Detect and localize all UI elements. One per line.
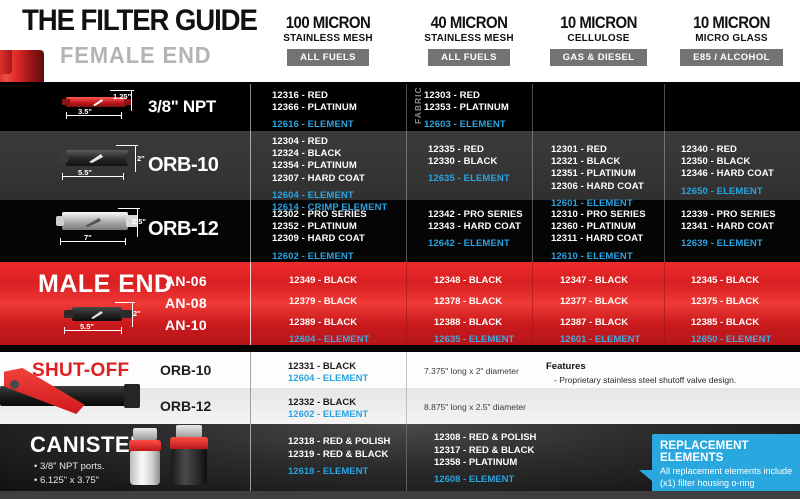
shutoff-element-1: 12602 - ELEMENT	[288, 409, 368, 420]
part-number: 12350 - BLACK	[681, 156, 750, 167]
page-footer-bar	[0, 491, 800, 499]
male-size-0: AN-06	[165, 273, 207, 289]
replacement-body: All replacement elements include (x1) fi…	[660, 466, 800, 489]
canister-bullet-1: • 6.125" x 3.75"	[34, 475, 99, 486]
column-micron-3: 10 MICRON	[673, 14, 790, 32]
column-divider-male-2	[532, 262, 533, 345]
part-number: 12309 - HARD COAT	[272, 233, 365, 244]
element-number: 12642 - ELEMENT	[428, 238, 510, 249]
part-number: 12354 - PLATINUM	[272, 160, 357, 171]
column-badge-3: E85 / ALCOHOL	[680, 49, 783, 66]
part-number: 12366 - PLATINUM	[272, 102, 357, 113]
column-micron-1: 40 MICRON	[414, 14, 525, 32]
column-header-1: 40 MICRON STAINLESS MESH ALL FUELS	[406, 14, 532, 66]
element-number: 12635 - ELEMENT	[428, 173, 510, 184]
part-cell-orb12-c3: 12339 - PRO SERIES12341 - HARD COAT12639…	[681, 209, 776, 251]
part-number: 12353 - PLATINUM	[424, 102, 509, 113]
element-number: 12616 - ELEMENT	[272, 119, 354, 130]
part-cell-npt-c1: 12303 - RED12353 - PLATINUM12603 - ELEME…	[424, 90, 509, 132]
row-label-orb12: ORB-12	[148, 218, 218, 241]
element-number: 12602 - ELEMENT	[272, 251, 354, 262]
part-cell-orb10-c2: 12301 - RED12321 - BLACK12351 - PLATINUM…	[551, 144, 644, 210]
dimension-width-orb12: 7"	[84, 233, 92, 242]
canister-part-4: 12358 - PLATINUM	[434, 457, 517, 468]
column-divider-shutoff	[250, 352, 251, 424]
column-divider-2	[532, 84, 533, 262]
male-part-r2-c0: 12389 - BLACK	[289, 317, 357, 328]
part-number: 12351 - PLATINUM	[551, 168, 636, 179]
male-part-r1-c2: 12377 - BLACK	[560, 296, 628, 307]
dimension-width-orb10: 5.5"	[78, 168, 92, 177]
column-material-3: MICRO GLASS	[668, 32, 794, 45]
male-part-r0-c1: 12348 - BLACK	[434, 275, 502, 286]
male-part-r0-c2: 12347 - BLACK	[560, 275, 628, 286]
brand-logo-icon	[88, 310, 106, 320]
row-label-orb10: ORB-10	[148, 154, 218, 177]
part-number: 12310 - PRO SERIES	[551, 209, 646, 220]
column-badge-2: GAS & DIESEL	[550, 49, 648, 66]
filter-thumb-orb12	[56, 210, 142, 234]
column-material-2: CELLULOSE	[536, 32, 660, 45]
part-cell-orb12-c1: 12342 - PRO SERIES12343 - HARD COAT12642…	[428, 209, 523, 251]
dimension-height-male: 2"	[133, 309, 141, 318]
element-number: 12604 - ELEMENT	[272, 190, 354, 201]
column-divider-canister-0	[250, 424, 251, 491]
brand-logo-icon	[86, 153, 106, 164]
canister-part-2: 12308 - RED & POLISH	[434, 432, 536, 443]
part-number: 12360 - PLATINUM	[551, 221, 636, 232]
column-divider-male-3	[664, 262, 665, 345]
section-male-end: MALE END 2" 5.5" AN-06 AN-08 AN-10 12349…	[0, 262, 800, 345]
element-number: 12603 - ELEMENT	[424, 119, 506, 130]
male-part-r2-c1: 12388 - BLACK	[434, 317, 502, 328]
dimension-height-orb12: 2.5"	[132, 217, 146, 226]
male-part-r1-c3: 12375 - BLACK	[691, 296, 759, 307]
filter-guide-page: THE FILTER GUIDE FEMALE END 100 MICRON S…	[0, 0, 800, 499]
filter-thumb-male	[62, 304, 136, 324]
column-material-1: STAINLESS MESH	[409, 32, 529, 45]
section-title-male-end: MALE END	[38, 270, 173, 299]
male-part-r2-c2: 12387 - BLACK	[560, 317, 628, 328]
canister-element-0: 12618 - ELEMENT	[288, 466, 368, 477]
column-divider-0	[250, 84, 251, 262]
column-divider-male-1	[406, 262, 407, 345]
part-number: 12342 - PRO SERIES	[428, 209, 523, 220]
canister-part-3: 12317 - RED & BLACK	[434, 445, 534, 456]
column-micron-2: 10 MICRON	[541, 14, 656, 32]
shutoff-dims-0: 7.375" long x 2" diameter	[424, 366, 519, 376]
column-header-0: 100 MICRON STAINLESS MESH ALL FUELS	[252, 14, 404, 66]
section-canister: CANISTER • 3/8" NPT ports. • 6.125" x 3.…	[0, 424, 800, 491]
element-number: 12601 - ELEMENT	[551, 198, 633, 209]
male-size-1: AN-08	[165, 295, 207, 311]
part-cell-orb10-c0: 12304 - RED12324 - BLACK12354 - PLATINUM…	[272, 136, 387, 214]
canister-element-1: 12608 - ELEMENT	[434, 474, 514, 485]
part-number: 12307 - HARD COAT	[272, 173, 365, 184]
brand-logo-icon	[82, 216, 104, 228]
column-material-0: STAINLESS MESH	[256, 32, 400, 45]
canister-graphic-black	[168, 425, 210, 487]
dimension-width-npt: 3.5"	[78, 107, 92, 116]
part-number: 12311 - HARD COAT	[551, 233, 643, 244]
male-element-c3: 12650 - ELEMENT	[691, 334, 771, 345]
replacement-elements-callout: REPLACEMENT ELEMENTS All replacement ele…	[652, 434, 800, 497]
callout-tail	[639, 470, 652, 481]
element-number: 12639 - ELEMENT	[681, 238, 763, 249]
shutoff-label-0: ORB-10	[160, 362, 211, 378]
column-badge-0: ALL FUELS	[287, 49, 369, 66]
column-badge-1: ALL FUELS	[428, 49, 510, 66]
canister-bullet-0: • 3/8" NPT ports.	[34, 461, 104, 472]
filter-thumb-orb10	[58, 147, 140, 169]
dimension-width-male: 5.5"	[80, 322, 94, 331]
part-number: 12304 - RED	[272, 136, 328, 147]
part-number: 12324 - BLACK	[272, 148, 341, 159]
part-cell-orb12-c2: 12310 - PRO SERIES12360 - PLATINUM12311 …	[551, 209, 646, 263]
row-label-npt: 3/8" NPT	[148, 97, 216, 117]
part-cell-orb10-c1: 12335 - RED12330 - BLACK12635 - ELEMENT	[428, 144, 510, 186]
column-divider-1	[406, 84, 407, 262]
shutoff-label-1: ORB-12	[160, 398, 211, 414]
section-subtitle-female-end: FEMALE END	[60, 42, 212, 69]
canister-cap-graphic	[0, 50, 12, 74]
table-row-npt: 1.25" 3.5" 3/8" NPT FABRIC	[0, 82, 800, 131]
part-number: 12339 - PRO SERIES	[681, 209, 776, 220]
table-row-orb12: 2.5" 7" ORB-12	[0, 200, 800, 262]
shutoff-part-0: 12331 - BLACK 12604 - ELEMENT	[288, 361, 368, 385]
column-divider-3	[664, 84, 665, 262]
table-row-orb10: 2" 5.5" ORB-10	[0, 131, 800, 200]
shutoff-dims-1: 8.875" long x 2.5" diameter	[424, 402, 526, 412]
part-number: 12302 - PRO SERIES	[272, 209, 367, 220]
part-number: 12341 - HARD COAT	[681, 221, 774, 232]
dimension-height-orb10: 2"	[137, 154, 145, 163]
canister-graphic-polish	[127, 428, 163, 486]
male-part-r0-c0: 12349 - BLACK	[289, 275, 357, 286]
male-element-c2: 12601 - ELEMENT	[560, 334, 640, 345]
dimension-height-npt: 1.25"	[113, 92, 131, 101]
male-part-r2-c3: 12385 - BLACK	[691, 317, 759, 328]
part-number: 12346 - HARD COAT	[681, 168, 774, 179]
part-number: 12330 - BLACK	[428, 156, 497, 167]
part-number: 12343 - HARD COAT	[428, 221, 521, 232]
column-divider-male-0	[250, 262, 251, 345]
column-micron-0: 100 MICRON	[261, 14, 395, 32]
shutoff-element-0: 12604 - ELEMENT	[288, 373, 368, 384]
part-cell-npt-c0: 12316 - RED12366 - PLATINUM12616 - ELEME…	[272, 90, 357, 132]
part-number: 12316 - RED	[272, 90, 328, 101]
male-element-c1: 12635 - ELEMENT	[434, 334, 514, 345]
shutoff-part-number-0: 12331 - BLACK	[288, 361, 356, 372]
element-number: 12650 - ELEMENT	[681, 186, 763, 197]
fabric-tag: FABRIC	[413, 86, 423, 124]
brand-logo-icon	[90, 98, 106, 107]
canister-bullets: • 3/8" NPT ports. • 6.125" x 3.75"	[34, 460, 104, 488]
page-title: THE FILTER GUIDE	[22, 4, 257, 38]
replacement-title: REPLACEMENT ELEMENTS	[660, 440, 800, 464]
column-divider-shutoff-2	[406, 352, 407, 424]
part-number: 12335 - RED	[428, 144, 484, 155]
male-part-r1-c0: 12379 - BLACK	[289, 296, 357, 307]
part-number: 12301 - RED	[551, 144, 607, 155]
shutoff-valve-graphic	[0, 372, 150, 418]
part-number: 12321 - BLACK	[551, 156, 620, 167]
shutoff-part-number-1: 12332 - BLACK	[288, 397, 356, 408]
part-number: 12352 - PLATINUM	[272, 221, 357, 232]
part-number: 12303 - RED	[424, 90, 480, 101]
male-size-2: AN-10	[165, 317, 207, 333]
canister-part-1: 12319 - RED & BLACK	[288, 449, 388, 460]
element-number: 12610 - ELEMENT	[551, 251, 633, 262]
part-cell-orb12-c0: 12302 - PRO SERIES12352 - PLATINUM12309 …	[272, 209, 367, 263]
male-part-r1-c1: 12378 - BLACK	[434, 296, 502, 307]
part-number: 12340 - RED	[681, 144, 737, 155]
features-title: Features	[546, 361, 586, 372]
canister-part-0: 12318 - RED & POLISH	[288, 436, 390, 447]
column-header-2: 10 MICRON CELLULOSE GAS & DIESEL	[533, 14, 664, 66]
canister-part-cell-c0: 12318 - RED & POLISH 12319 - RED & BLACK…	[288, 436, 390, 479]
feature-0: - Proprietary stainless steel shutoff va…	[554, 375, 736, 385]
male-part-r0-c3: 12345 - BLACK	[691, 275, 759, 286]
part-number: 12306 - HARD COAT	[551, 181, 644, 192]
column-divider-canister-1	[406, 424, 407, 491]
male-element-c0: 12604 - ELEMENT	[289, 334, 369, 345]
shutoff-part-1: 12332 - BLACK 12602 - ELEMENT	[288, 397, 368, 421]
canister-part-cell-c2: 12308 - RED & POLISH 12317 - RED & BLACK…	[434, 432, 536, 486]
column-header-3: 10 MICRON MICRO GLASS E85 / ALCOHOL	[665, 14, 798, 66]
page-header: THE FILTER GUIDE FEMALE END 100 MICRON S…	[0, 0, 800, 82]
part-cell-orb10-c3: 12340 - RED12350 - BLACK12346 - HARD COA…	[681, 144, 774, 198]
